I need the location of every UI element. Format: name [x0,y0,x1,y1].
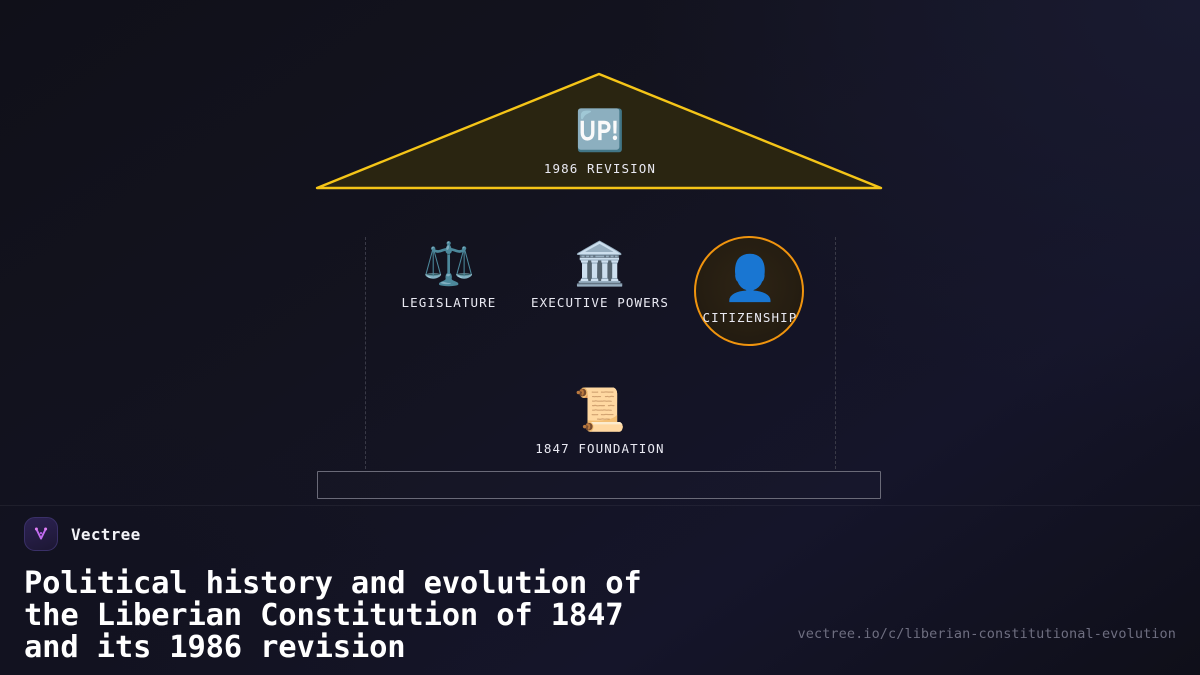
node-foundation[interactable]: 📜 1847 FOUNDATION [515,386,685,456]
classical-building-icon: 🏛️ [515,240,685,288]
node-legislature[interactable]: ⚖️ LEGISLATURE [364,240,534,310]
footer: Vectree Political history and evolution … [0,506,1200,675]
vectree-tree-logo-icon [24,517,58,551]
balance-scale-icon: ⚖️ [364,240,534,288]
node-executive-powers-label: EXECUTIVE POWERS [515,295,685,310]
base-plinth [317,471,881,499]
node-executive-powers[interactable]: 🏛️ EXECUTIVE POWERS [515,240,685,310]
page-title: Political history and evolution of the L… [24,568,804,664]
slide-canvas: 🆙 1986 REVISION ⚖️ LEGISLATURE 🏛️ EXECUT… [0,0,1200,675]
node-citizenship[interactable]: 👤 CITIZENSHIP [665,236,835,348]
scroll-icon: 📜 [515,386,685,434]
node-citizenship-label: CITIZENSHIP [665,310,835,325]
pediment-node[interactable]: 🆙 1986 REVISION [300,108,900,176]
brand-name: Vectree [71,525,141,544]
pediment-label: 1986 REVISION [300,161,900,176]
person-bust-icon: 👤 [665,236,835,304]
node-legislature-label: LEGISLATURE [364,295,534,310]
up-arrow-button-icon: 🆙 [300,108,900,154]
brand[interactable]: Vectree [24,517,141,551]
permalink-url: vectree.io/c/liberian-constitutional-evo… [798,626,1176,642]
column-guide-right [835,237,836,469]
constitution-temple-diagram: 🆙 1986 REVISION ⚖️ LEGISLATURE 🏛️ EXECUT… [0,0,1200,505]
node-foundation-label: 1847 FOUNDATION [515,441,685,456]
